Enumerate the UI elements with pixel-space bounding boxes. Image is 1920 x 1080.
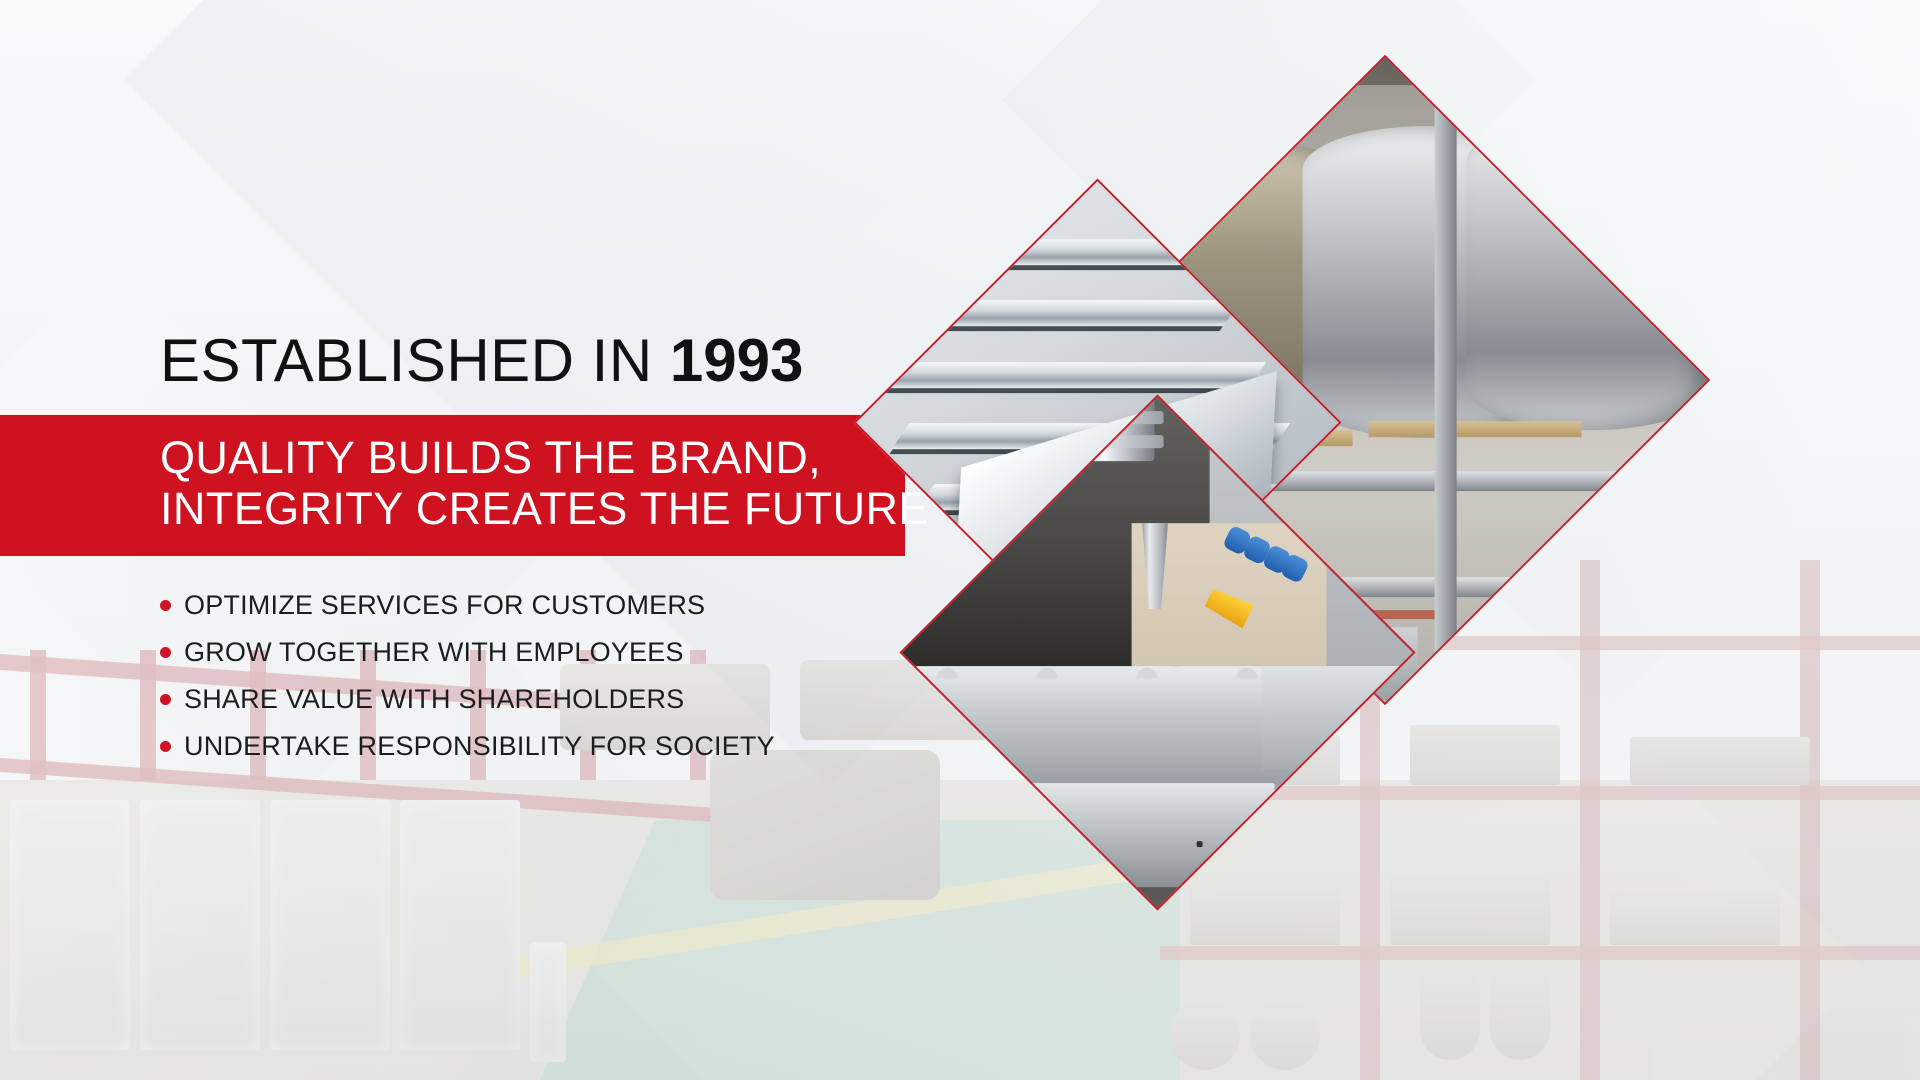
list-item-label: SHARE VALUE WITH SHAREHOLDERS	[184, 684, 684, 715]
slogan-line-2: INTEGRITY CREATES THE FUTURE	[160, 483, 905, 534]
list-item: OPTIMIZE SERVICES FOR CUSTOMERS	[160, 582, 1000, 629]
list-item: UNDERTAKE RESPONSIBILITY FOR SOCIETY	[160, 723, 1000, 770]
bullet-dot-icon	[160, 694, 171, 705]
slogan-banner: QUALITY BUILDS THE BRAND, INTEGRITY CREA…	[0, 415, 905, 556]
hero-banner: ESTABLISHED IN 1993 QUALITY BUILDS THE B…	[0, 0, 1920, 1080]
slogan-line-1: QUALITY BUILDS THE BRAND,	[160, 432, 905, 483]
list-item-label: OPTIMIZE SERVICES FOR CUSTOMERS	[184, 590, 705, 621]
headline-year: 1993	[670, 327, 803, 394]
bullet-dot-icon	[160, 741, 171, 752]
list-item-label: UNDERTAKE RESPONSIBILITY FOR SOCIETY	[184, 731, 775, 762]
hero-content: ESTABLISHED IN 1993 QUALITY BUILDS THE B…	[0, 330, 1000, 770]
list-item-label: GROW TOGETHER WITH EMPLOYEES	[184, 637, 684, 668]
diamond-photo-collage	[905, 150, 1920, 940]
bullet-dot-icon	[160, 600, 171, 611]
headline-prefix: ESTABLISHED IN	[160, 327, 670, 394]
bullet-dot-icon	[160, 647, 171, 658]
value-list: OPTIMIZE SERVICES FOR CUSTOMERS GROW TOG…	[0, 582, 1000, 770]
list-item: GROW TOGETHER WITH EMPLOYEES	[160, 629, 1000, 676]
list-item: SHARE VALUE WITH SHAREHOLDERS	[160, 676, 1000, 723]
page-title: ESTABLISHED IN 1993	[0, 330, 1000, 391]
